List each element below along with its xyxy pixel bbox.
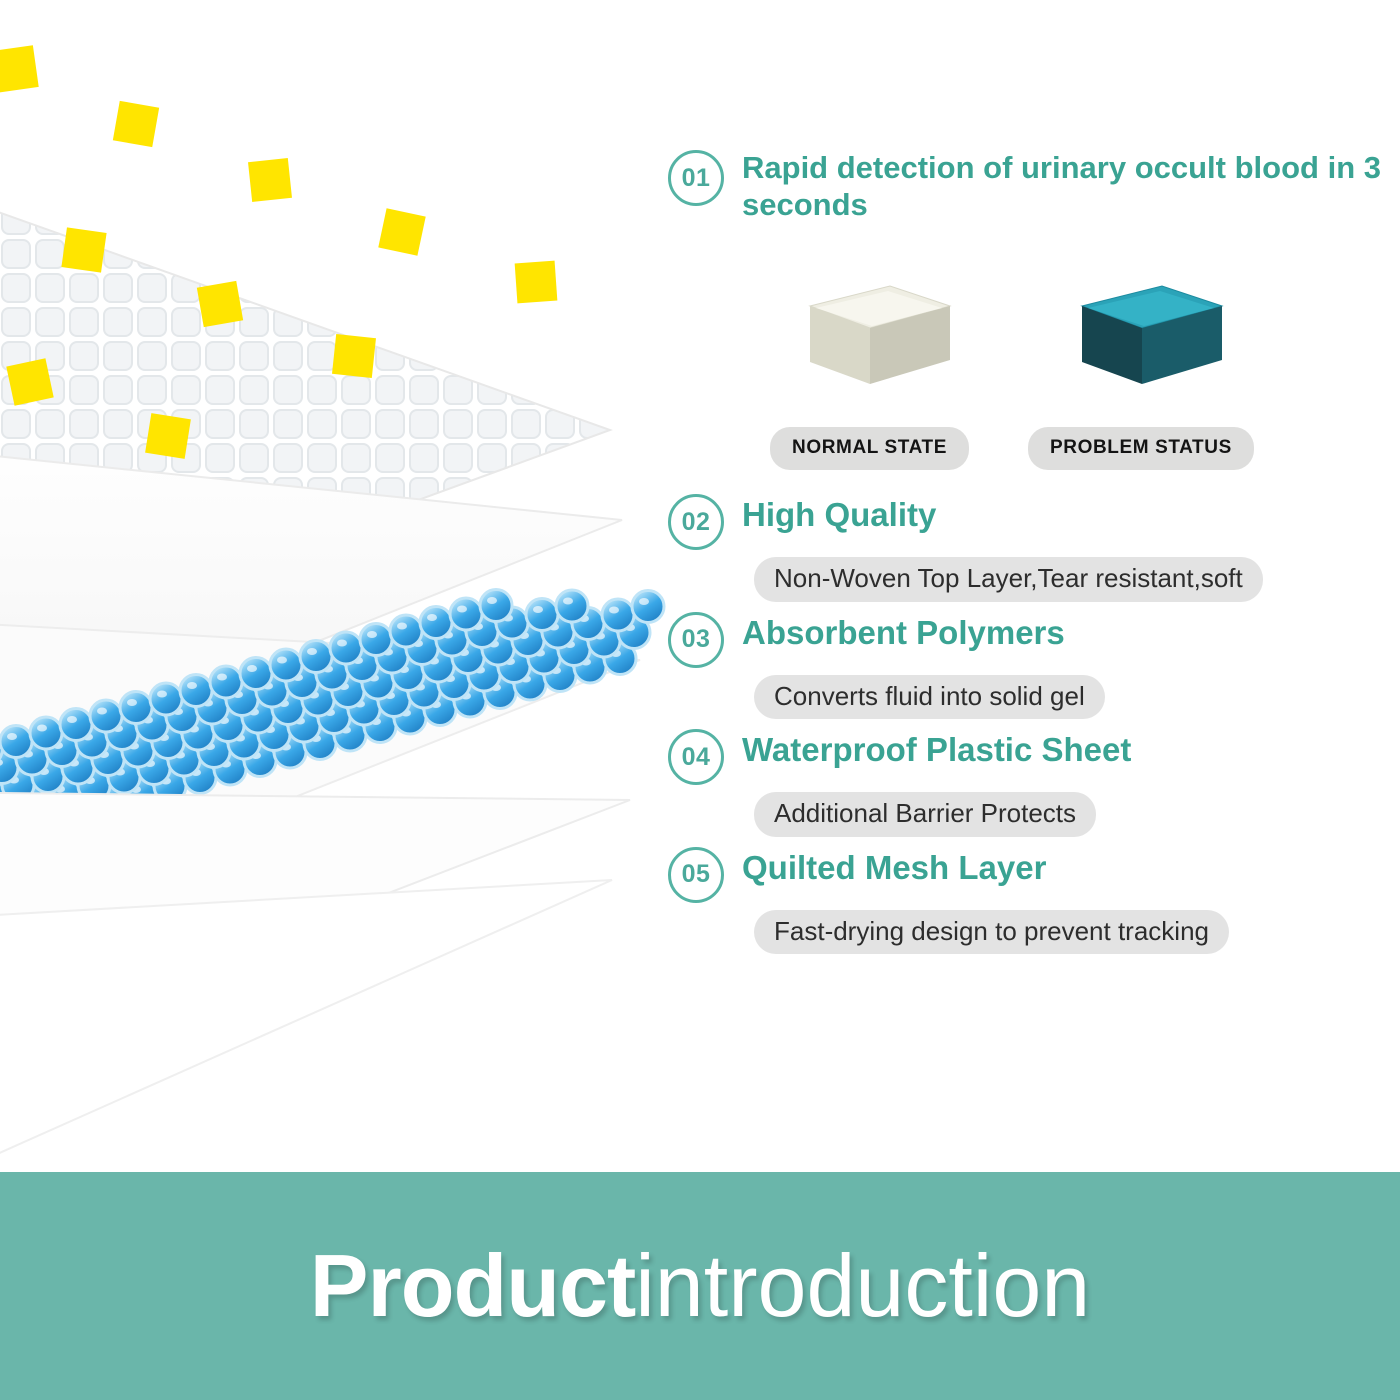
feature-title: Waterproof Plastic Sheet: [742, 729, 1131, 769]
confetti-square: [6, 358, 53, 405]
feature-item-02: 02 High Quality Non-Woven Top Layer,Tear…: [668, 494, 1384, 602]
feature-number-badge: 02: [668, 494, 724, 550]
product-layers-illustration: [0, 0, 680, 1180]
feature-subtitle: Converts fluid into solid gel: [754, 675, 1105, 720]
confetti-square: [332, 334, 376, 378]
feature-title: Rapid detection of urinary occult blood …: [742, 150, 1384, 223]
feature-heading: 05 Quilted Mesh Layer: [668, 847, 1384, 903]
problem-chip-svg: [1070, 272, 1230, 402]
confetti-square: [113, 101, 159, 147]
banner-title-bold: Product: [310, 1236, 635, 1335]
feature-number-badge: 03: [668, 612, 724, 668]
feature-heading: 03 Absorbent Polymers: [668, 612, 1384, 668]
confetti-square: [145, 413, 191, 459]
feature-subtitle: Fast-drying design to prevent tracking: [754, 910, 1229, 955]
problem-state-chip-graphic: [1070, 272, 1230, 407]
feature-subtitle: Non-Woven Top Layer,Tear resistant,soft: [754, 557, 1263, 602]
feature-subtitle: Additional Barrier Protects: [754, 792, 1096, 837]
normal-state-chip-graphic: [798, 272, 958, 407]
confetti-square: [378, 208, 425, 255]
banner-title-light: introduction: [635, 1236, 1090, 1335]
bottom-banner: Productintroduction: [0, 1172, 1400, 1400]
feature-number-badge: 04: [668, 729, 724, 785]
feature-item-03: 03 Absorbent Polymers Converts fluid int…: [668, 612, 1384, 720]
feature-title: Quilted Mesh Layer: [742, 847, 1046, 887]
feature-number-badge: 05: [668, 847, 724, 903]
layer-stack-svg: [0, 0, 680, 1180]
confetti-square: [248, 158, 292, 202]
banner-title: Productintroduction: [310, 1242, 1090, 1330]
feature-heading: 02 High Quality: [668, 494, 1384, 550]
confetti-square: [61, 227, 106, 272]
problem-state-label: PROBLEM STATUS: [1028, 427, 1254, 470]
normal-chip-svg: [798, 272, 958, 402]
feature-title: High Quality: [742, 494, 936, 534]
feature-item-04: 04 Waterproof Plastic Sheet Additional B…: [668, 729, 1384, 837]
feature-item-05: 05 Quilted Mesh Layer Fast-drying design…: [668, 847, 1384, 955]
feature-heading: 01 Rapid detection of urinary occult blo…: [668, 150, 1384, 223]
feature-heading: 04 Waterproof Plastic Sheet: [668, 729, 1384, 785]
feature-number-badge: 01: [668, 150, 724, 206]
normal-state-label: NORMAL STATE: [770, 427, 969, 470]
confetti-square: [0, 45, 39, 92]
confetti-square: [515, 261, 558, 304]
feature-title: Absorbent Polymers: [742, 612, 1065, 652]
feature-list: 01 Rapid detection of urinary occult blo…: [668, 150, 1384, 958]
bottom-sheet: [0, 880, 612, 1175]
confetti-square: [197, 281, 243, 327]
